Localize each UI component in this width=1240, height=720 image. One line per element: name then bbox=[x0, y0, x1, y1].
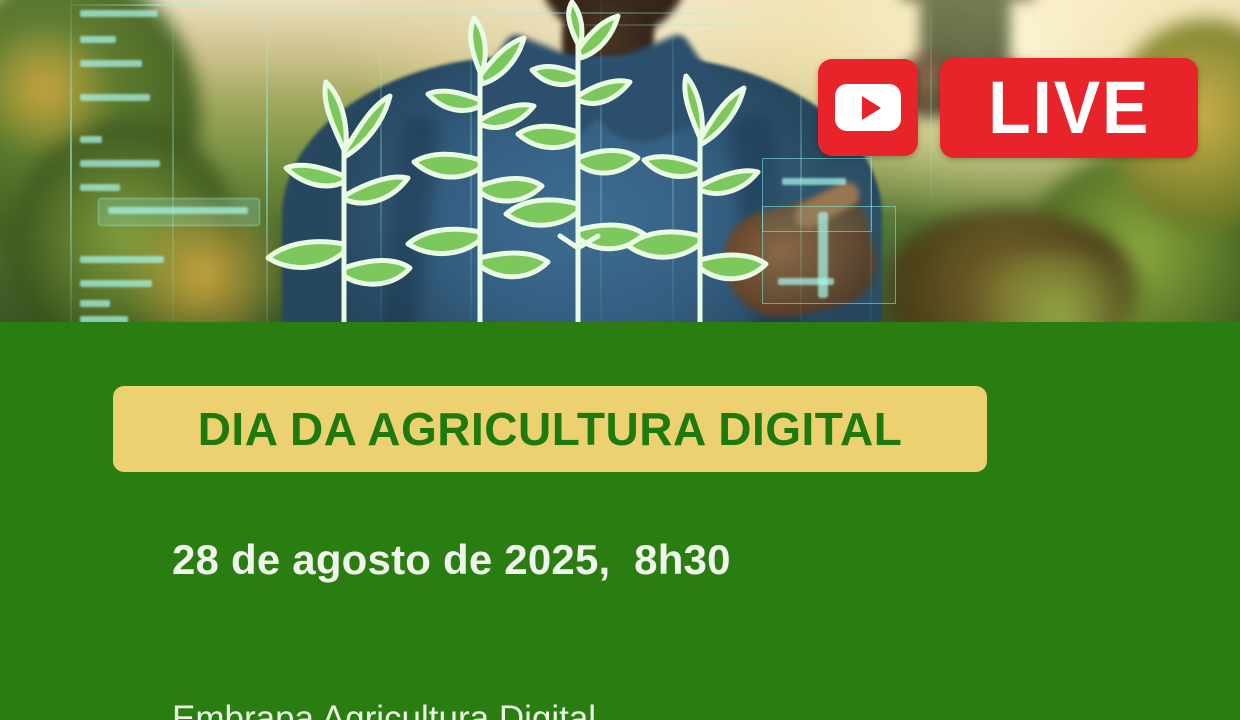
event-title-banner: DIA DA AGRICULTURA DIGITAL bbox=[113, 386, 987, 472]
venue-line-1: Embrapa Agricultura Digital bbox=[172, 697, 732, 720]
event-date: 28 de agosto de 2025, 8h30 bbox=[172, 536, 731, 584]
youtube-badge[interactable] bbox=[818, 59, 918, 156]
youtube-play-icon bbox=[835, 84, 901, 131]
live-badge[interactable]: LIVE bbox=[940, 58, 1198, 158]
hero-image: LIVE bbox=[0, 0, 1240, 322]
plant-illustrations bbox=[0, 0, 1240, 322]
live-label: LIVE bbox=[988, 71, 1150, 145]
event-title: DIA DA AGRICULTURA DIGITAL bbox=[198, 402, 903, 456]
event-poster: LIVE DIA DA AGRICULTURA DIGITAL 28 de ag… bbox=[0, 0, 1240, 720]
event-venue: Embrapa Agricultura Digital Campus da Un… bbox=[172, 609, 732, 720]
